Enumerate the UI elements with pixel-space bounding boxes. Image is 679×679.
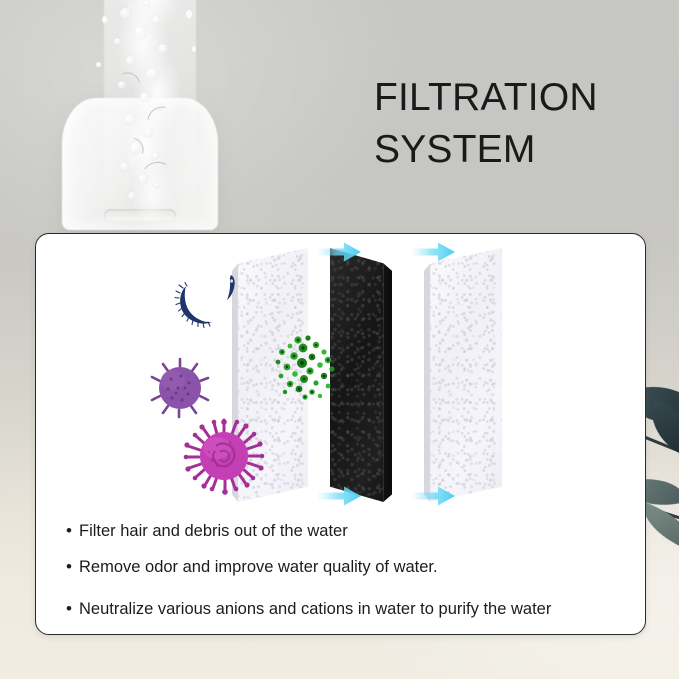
- info-card: • Filter hair and debris out of the wate…: [35, 233, 646, 635]
- bacterium-blue-large: [174, 282, 220, 332]
- product-infographic: FILTRATION SYSTEM: [0, 0, 679, 679]
- flow-arrow-bottom-left: [318, 486, 362, 506]
- flow-arrow-top-right: [412, 242, 456, 262]
- list-item: • Remove odor and improve water quality …: [66, 556, 622, 578]
- filter-layer-post-white: [424, 248, 502, 502]
- bullet-text-3: Neutralize various anions and cations in…: [79, 598, 622, 620]
- list-item: • Filter hair and debris out of the wate…: [66, 520, 622, 542]
- bullet-text-2: Remove odor and improve water quality of…: [79, 556, 622, 578]
- virus-magenta-corona: [184, 416, 264, 496]
- list-item: • Neutralize various anions and cations …: [66, 598, 622, 620]
- filter-layer-diagram: [36, 234, 645, 519]
- bullet-marker: •: [66, 556, 79, 578]
- filter-face-white-2: [424, 248, 502, 502]
- bacteria-green-cluster: [268, 332, 346, 404]
- feature-bullet-list: • Filter hair and debris out of the wate…: [66, 520, 622, 620]
- title-line-2: SYSTEM: [374, 124, 664, 176]
- bullet-text-1: Filter hair and debris out of the water: [79, 520, 622, 542]
- virus-purple-sphere: [149, 357, 211, 419]
- bullet-marker: •: [66, 598, 79, 620]
- flow-arrow-bottom-right: [412, 486, 456, 506]
- page-title: FILTRATION SYSTEM: [374, 72, 664, 176]
- title-line-1: FILTRATION: [374, 76, 598, 119]
- flow-arrow-top-left: [318, 242, 362, 262]
- bullet-marker: •: [66, 520, 79, 542]
- bacterium-blue-small: [222, 274, 242, 302]
